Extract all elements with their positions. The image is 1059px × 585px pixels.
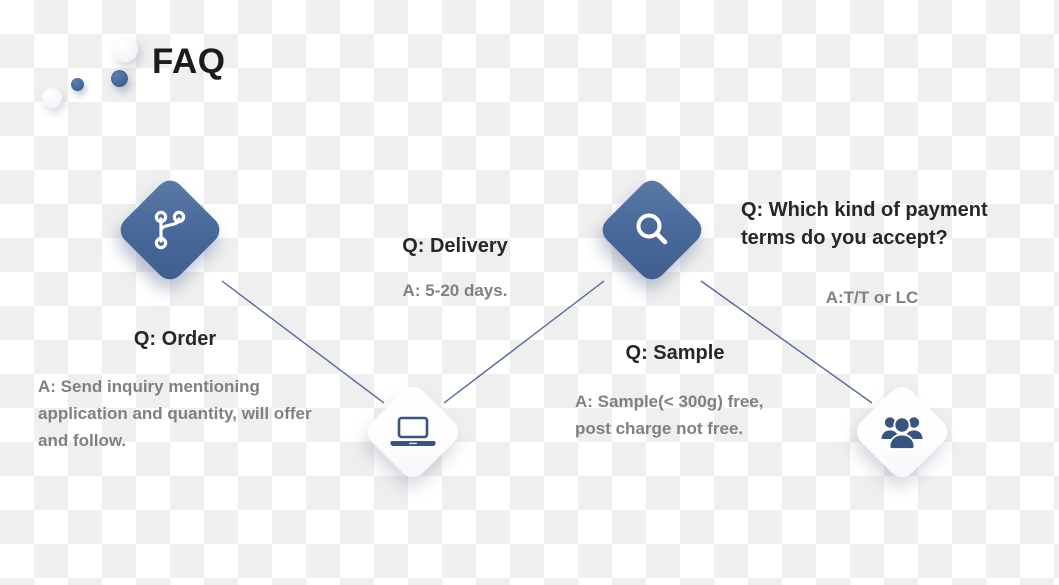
decor-dot-white-large xyxy=(112,36,138,62)
people-group-icon xyxy=(880,414,924,450)
node-sample-diamond[interactable] xyxy=(597,175,707,285)
page-title: FAQ xyxy=(152,44,225,79)
question-order: Q: Order xyxy=(40,328,310,351)
answer-delivery: A: 5-20 days. xyxy=(355,281,555,301)
question-payment: Q: Which kind of payment terms do you ac… xyxy=(741,196,1003,252)
answer-sample: A: Sample(< 300g) free, post charge not … xyxy=(575,388,775,442)
decor-dot-blue-small xyxy=(71,78,84,91)
decor-dot-blue-large xyxy=(111,70,128,87)
answer-order: A: Send inquiry mentioning application a… xyxy=(38,373,314,454)
faq-infographic: FAQ Q: Order A: Send inquiry mentioning … xyxy=(0,0,1059,585)
question-delivery: Q: Delivery xyxy=(355,235,555,258)
decor-dot-white-small xyxy=(42,88,62,108)
laptop-icon xyxy=(390,414,436,450)
node-payment-diamond[interactable] xyxy=(851,381,953,483)
node-order-diamond[interactable] xyxy=(115,175,225,285)
git-branch-icon xyxy=(150,209,190,251)
question-sample: Q: Sample xyxy=(560,342,790,365)
search-icon xyxy=(631,209,673,251)
node-delivery-diamond[interactable] xyxy=(362,381,464,483)
answer-payment: A:T/T or LC xyxy=(741,288,1003,308)
